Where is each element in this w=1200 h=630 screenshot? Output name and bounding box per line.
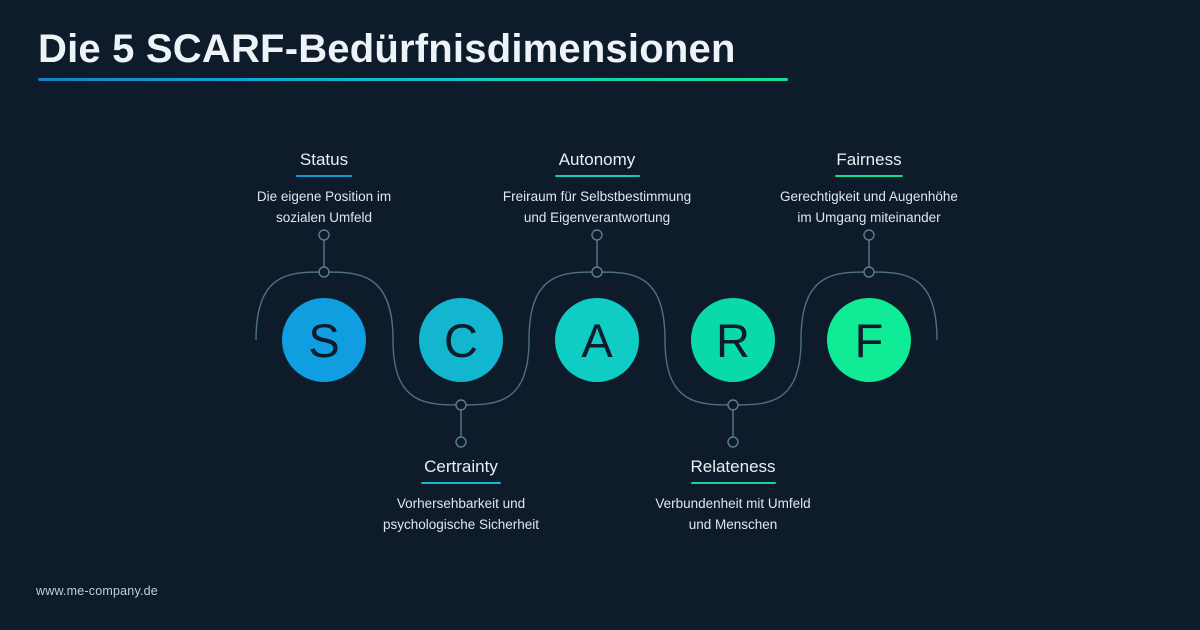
label-description-status: Die eigene Position im sozialen Umfeld [174,187,474,229]
label-title-certrainty: Certrainty [424,457,498,480]
letter-circle-c[interactable]: C [419,298,503,382]
connector-node-label-status [319,230,329,240]
letter-circle-a[interactable]: A [555,298,639,382]
connector-node-label-relateness [728,437,738,447]
label-title-fairness: Fairness [836,150,901,173]
label-underline-status [296,175,352,177]
letter-circle-r[interactable]: R [691,298,775,382]
connector-node-label-certrainty [456,437,466,447]
label-title-autonomy: Autonomy [559,150,636,173]
label-underline-autonomy [555,175,640,177]
scarf-diagram: S C A R F Status Die eigene Position im … [0,0,1200,630]
letter-circle-f[interactable]: F [827,298,911,382]
label-description-autonomy: Freiraum für Selbstbestimmung und Eigenv… [447,187,747,229]
footer-website-url: www.me-company.de [36,584,158,598]
label-group-fairness: Fairness Gerechtigkeit und Augenhöhe im … [719,150,1019,229]
label-title-relateness: Relateness [690,457,775,480]
label-title-status: Status [300,150,348,173]
label-group-autonomy: Autonomy Freiraum für Selbstbestimmung u… [447,150,747,229]
connector-node-wave-autonomy [592,267,602,277]
connector-node-wave-certrainty [456,400,466,410]
connector-node-wave-fairness [864,267,874,277]
connector-node-wave-relateness [728,400,738,410]
label-group-status: Status Die eigene Position im sozialen U… [174,150,474,229]
label-description-fairness: Gerechtigkeit und Augenhöhe im Umgang mi… [719,187,1019,229]
label-underline-fairness [835,175,903,177]
label-group-certrainty: Certrainty Vorhersehbarkeit und psycholo… [311,457,611,536]
connector-node-wave-status [319,267,329,277]
connector-node-label-autonomy [592,230,602,240]
label-group-relateness: Relateness Verbundenheit mit Umfeld und … [583,457,883,536]
label-underline-certrainty [421,482,501,484]
label-description-relateness: Verbundenheit mit Umfeld und Menschen [583,494,883,536]
letter-circle-s[interactable]: S [282,298,366,382]
label-description-certrainty: Vorhersehbarkeit und psychologische Sich… [311,494,611,536]
connector-node-label-fairness [864,230,874,240]
label-underline-relateness [691,482,776,484]
